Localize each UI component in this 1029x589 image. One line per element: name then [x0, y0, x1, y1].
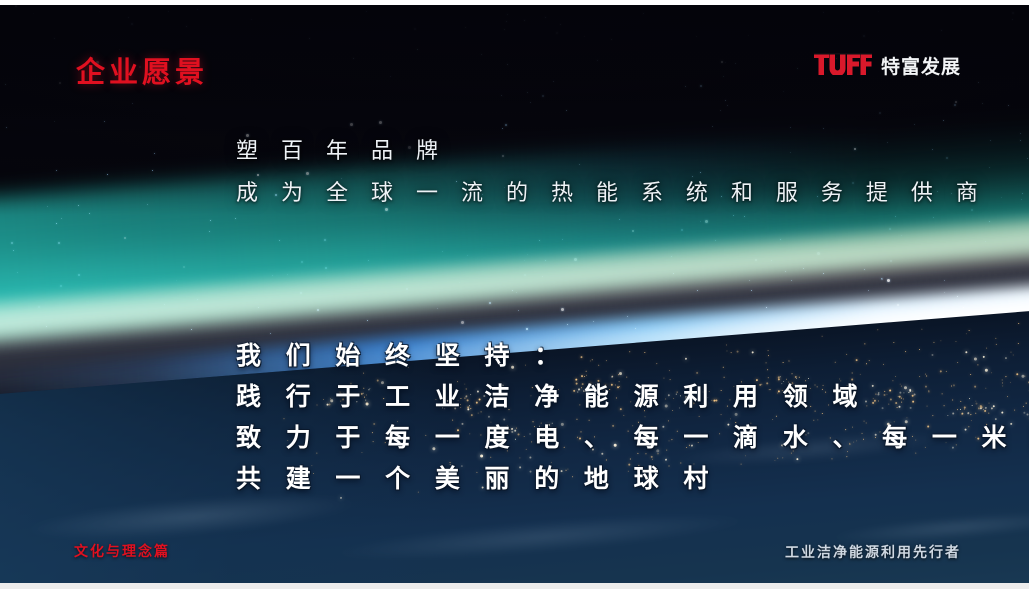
- vision-line-2: 成 为 全 球 一 流 的 热 能 系 统 和 服 务 提 供 商: [236, 173, 986, 215]
- page-frame-bottom: [0, 583, 1029, 589]
- presentation-slide: 企业愿景: [0, 5, 1029, 583]
- pledge-statement-block: 我 们 始 终 坚 持 ： 践 行 于 工 业 洁 净 能 源 利 用 领 域 …: [236, 335, 1029, 499]
- brand-lockup: 特富发展: [814, 52, 961, 79]
- vision-statement-block: 塑 百 年 品 牌 成 为 全 球 一 流 的 热 能 系 统 和 服 务 提 …: [236, 131, 986, 215]
- footer-section-label: 文化与理念篇: [74, 541, 170, 561]
- footer-tagline: 工业洁净能源利用先行者: [785, 542, 961, 562]
- pledge-line-1: 我 们 始 终 坚 持 ：: [236, 335, 1029, 376]
- slide-root: 企业愿景: [0, 0, 1029, 589]
- pledge-line-3: 致 力 于 每 一 度 电 、 每 一 滴 水 、 每 一 米 阳 光: [236, 417, 1029, 458]
- vision-line-1: 塑 百 年 品 牌: [236, 131, 986, 173]
- pledge-line-4: 共 建 一 个 美 丽 的 地 球 村: [236, 458, 1029, 499]
- tuff-logo-icon: [814, 53, 872, 79]
- slide-content: 企业愿景: [0, 5, 1029, 583]
- brand-name-cn: 特富发展: [881, 52, 961, 79]
- pledge-line-2: 践 行 于 工 业 洁 净 能 源 利 用 领 域: [236, 376, 1029, 417]
- page-title: 企业愿景: [76, 49, 208, 91]
